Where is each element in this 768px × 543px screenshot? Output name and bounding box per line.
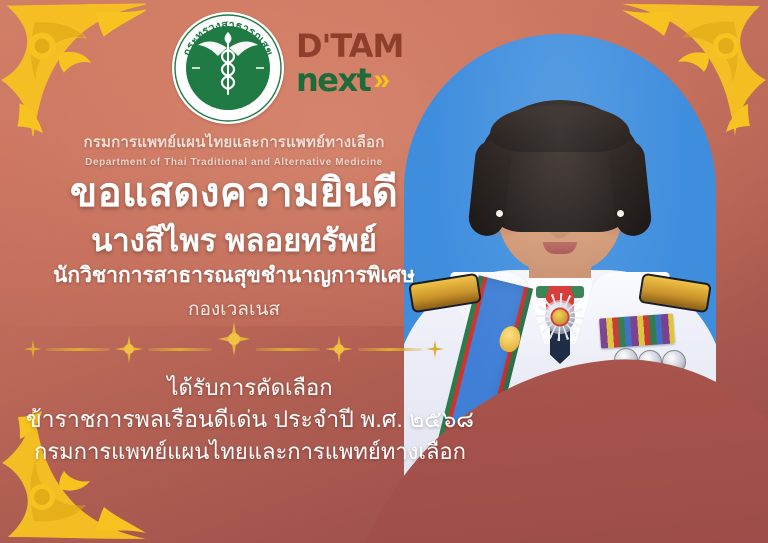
face bbox=[498, 120, 622, 272]
earring-left bbox=[496, 210, 503, 217]
pupil-left bbox=[508, 198, 517, 207]
department-block: กรมการแพทย์แผนไทยและการแพทย์ทางเลือก Dep… bbox=[0, 130, 468, 168]
pupil-right bbox=[603, 198, 612, 207]
honoree-position: นักวิชาการสาธารณสุขชำนาญการพิเศษ bbox=[0, 263, 468, 288]
dtam-next-wordmark: next bbox=[296, 64, 370, 96]
ornamental-divider bbox=[0, 334, 468, 364]
order-star-neck bbox=[545, 302, 575, 332]
neck bbox=[529, 244, 591, 304]
sparkle-icon-large-center bbox=[216, 320, 252, 360]
ear-left bbox=[490, 184, 508, 214]
department-name-english: Department of Thai Traditional and Alter… bbox=[0, 157, 468, 168]
sparkle-icon-medium-left bbox=[114, 334, 144, 364]
earring-right bbox=[617, 210, 624, 217]
award-line-2: ข้าราชการพลเรือนดีเด่น ประจำปี พ.ศ. ๒๕๖๘ bbox=[0, 403, 500, 436]
necktie-band bbox=[536, 286, 584, 298]
congratulations-title: ขอแสดงความยินดี bbox=[0, 170, 468, 216]
ear-right bbox=[612, 184, 630, 214]
sparkle-icon-medium-right bbox=[324, 334, 354, 364]
epaulette-right bbox=[638, 273, 712, 314]
award-block: ได้รับการคัดเลือก ข้าราชการพลเรือนดีเด่น… bbox=[0, 372, 500, 467]
nose bbox=[550, 212, 570, 238]
service-ribbon-bar bbox=[599, 313, 675, 348]
sparkle-icon-small-left bbox=[24, 340, 42, 358]
chevron-right-icon: » bbox=[373, 65, 384, 95]
eyebrow-left bbox=[496, 181, 530, 191]
eye-left bbox=[500, 196, 526, 207]
honoree-name: นางสีไพร พลอยทรัพย์ bbox=[0, 222, 468, 259]
hair bbox=[476, 100, 644, 232]
divider-line-center-left bbox=[148, 348, 212, 351]
sash-badge bbox=[497, 324, 523, 354]
thai-kranok-ornament-top-left bbox=[0, 0, 150, 140]
dtam-wordmark: D'TAM bbox=[296, 30, 403, 62]
divider-line-right bbox=[358, 348, 422, 351]
eye-right bbox=[594, 196, 620, 207]
divider-line-center-right bbox=[256, 348, 320, 351]
divider-line-left bbox=[46, 348, 110, 351]
cheek-left bbox=[490, 224, 514, 236]
cheek-right bbox=[606, 224, 630, 236]
award-line-3: กรมการแพทย์แผนไทยและการแพทย์ทางเลือก bbox=[0, 436, 500, 467]
headline-block: ขอแสดงความยินดี นางสีไพร พลอยทรัพย์ นักว… bbox=[0, 170, 468, 324]
hair-fringe bbox=[490, 106, 630, 152]
eyebrow-right bbox=[590, 181, 624, 191]
dtam-next-logo: D'TAM next » bbox=[296, 30, 403, 96]
ministry-of-public-health-seal: กระทรวงสาธารณสุข MINISTRY OF PUBLIC HEAL… bbox=[172, 12, 284, 124]
necktie-knot bbox=[546, 292, 574, 314]
department-name-thai: กรมการแพทย์แผนไทยและการแพทย์ทางเลือก bbox=[0, 130, 468, 154]
necktie-tail bbox=[550, 312, 570, 364]
congratulation-banner: กระทรวงสาธารณสุข MINISTRY OF PUBLIC HEAL… bbox=[0, 0, 768, 543]
uniform-shirt bbox=[527, 278, 593, 344]
award-line-1: ได้รับการคัดเลือก bbox=[0, 372, 500, 403]
mouth bbox=[543, 242, 577, 254]
sparkle-icon-small-right bbox=[426, 340, 444, 358]
